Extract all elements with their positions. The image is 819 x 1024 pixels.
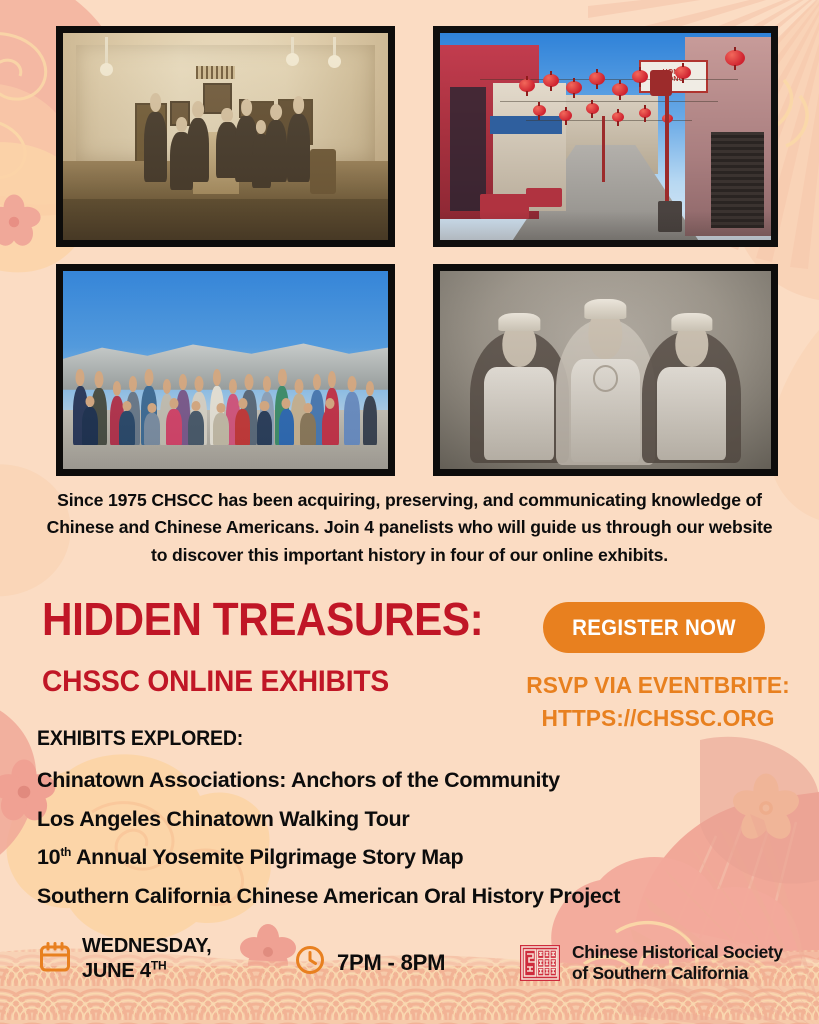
page-title: HIDDEN TREASURES: [42,596,483,642]
event-date-text: WEDNESDAY, JUNE 4TH [82,934,212,984]
event-time-text: 7PM - 8PM [337,950,445,976]
register-button-label: REGISTER NOW [572,615,736,641]
clock-icon [294,944,326,981]
list-item: Los Angeles Chinatown Walking Tour [37,800,777,839]
event-date: WEDNESDAY, JUNE 4TH [38,934,212,984]
rsvp-line-1: RSVP VIA EVENTBRITE: [513,669,804,702]
event-time: 7PM - 8PM [294,944,445,981]
fan-decoration-left [0,697,36,877]
list-item: Southern California Chinese American Ora… [37,877,777,916]
chsscc-seal-logo-icon [519,943,561,983]
list-item-number: 10 [37,845,60,869]
event-day: WEDNESDAY, [82,934,212,959]
org-name-line-1: Chinese Historical Society [572,942,783,963]
hong-kong-sign: HONG KONG [639,60,709,93]
yosemite-pilgrimage-group-photo [56,264,395,476]
los-angeles-chinatown-street-photo: HONG KONG [433,26,778,247]
organization-name: Chinese Historical Society of Southern C… [572,942,783,984]
three-children-portrait-photo [433,264,778,476]
flower-decoration-left [0,194,41,245]
list-item: 10th Annual Yosemite Pilgrimage Story Ma… [37,838,777,877]
event-flyer: HONG KONG [0,0,819,1024]
footer-details: WEDNESDAY, JUNE 4TH 7PM - 8PM [0,930,819,1024]
register-now-button[interactable]: REGISTER NOW [543,602,765,653]
org-name-line-2: of Southern California [572,963,783,984]
list-item: Chinatown Associations: Anchors of the C… [37,761,777,800]
exhibits-list: Chinatown Associations: Anchors of the C… [37,761,777,915]
list-item-suffix: Annual Yosemite Pilgrimage Story Map [71,845,463,869]
page-subtitle: CHSSC ONLINE EXHIBITS [42,667,389,697]
organization-branding: Chinese Historical Society of Southern C… [519,942,783,984]
intro-paragraph: Since 1975 CHSCC has been acquiring, pre… [40,487,779,569]
rsvp-info: RSVP VIA EVENTBRITE: HTTPS://CHSSC.ORG [513,669,804,736]
list-item-ordinal: th [60,845,71,859]
event-month-day: JUNE 4TH [82,959,212,984]
rsvp-link[interactable]: HTTPS://CHSSC.ORG [513,702,804,735]
photo-grid: HONG KONG [56,26,778,476]
calendar-icon [38,940,72,979]
exhibits-explored-label: EXHIBITS EXPLORED: [37,727,243,751]
historic-association-meeting-photo [56,26,395,247]
